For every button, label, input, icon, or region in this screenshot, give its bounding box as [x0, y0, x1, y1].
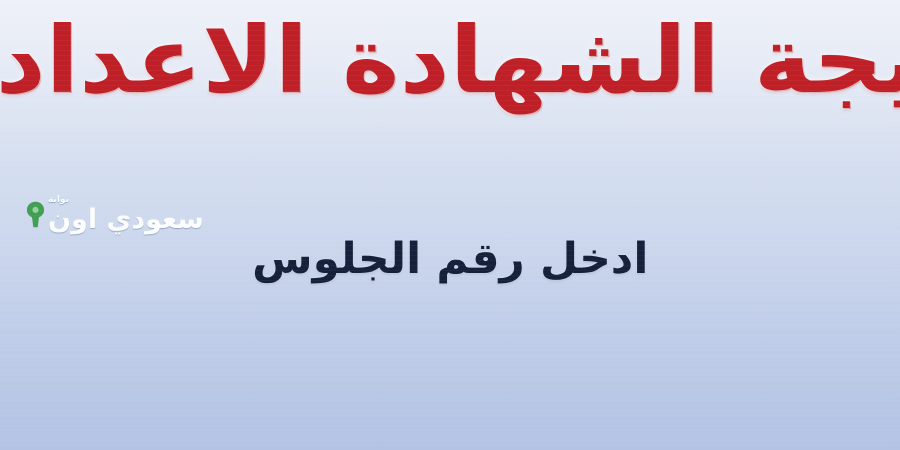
site-watermark: بوابة سعودي اون	[26, 196, 204, 233]
seat-number-prompt-text: ادخل رقم الجلوس	[252, 234, 648, 284]
page-title-text: نتيجة الشهادة الاعدادية	[0, 14, 900, 108]
watermark-name: سعودي اون	[48, 206, 204, 233]
seat-number-prompt: ادخل رقم الجلوس	[0, 228, 900, 290]
location-pin-icon	[26, 201, 45, 228]
watermark-text-group: بوابة سعودي اون	[48, 196, 204, 233]
page-title: نتيجة الشهادة الاعدادية	[0, 2, 900, 120]
result-lookup-page: نتيجة الشهادة الاعدادية بوابة سعودي اون …	[0, 0, 900, 450]
result-lookup-form: عرض النتيجة	[0, 318, 900, 436]
